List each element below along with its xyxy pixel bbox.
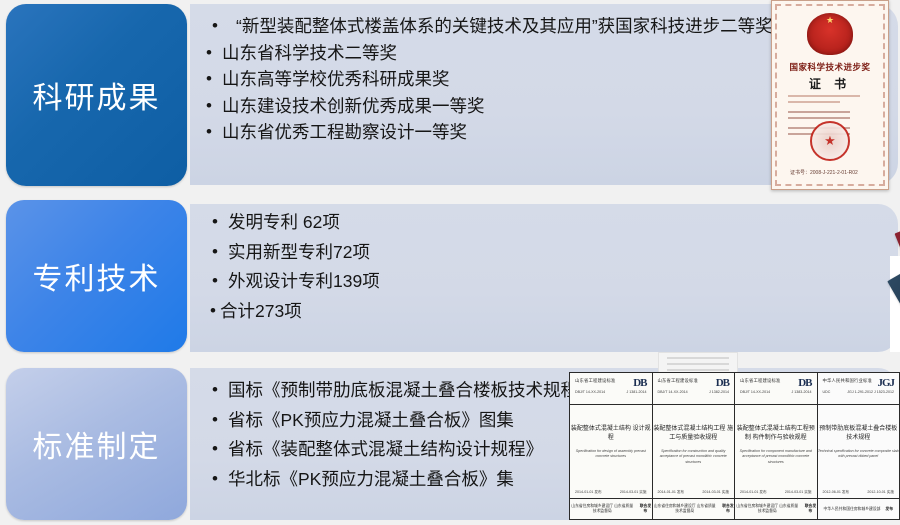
cover-code-right: J 1381-2014 (627, 390, 647, 394)
db-logo-icon: DB (798, 377, 811, 389)
cover-subtitle: Specification for construction and quali… (653, 449, 735, 465)
list-item: 外观设计专利139项 (212, 273, 888, 291)
list-item: 合计273项 (212, 303, 888, 321)
cover-code-right: J 1382-2014 (709, 390, 729, 394)
standard-cover: 山东省工程建设标准 DB DBJ/T 14-XX-2014 J 1382-201… (652, 372, 736, 520)
cover-title: 预制带肋底板混凝土叠合楼板技术规程 (818, 425, 900, 443)
certificate-inner: 国家科学技术进步奖 证 书 证书号：2008-J-221-2-01-R02 (780, 9, 880, 181)
cover-date-left: 2014-01-01 发布 (575, 490, 602, 495)
standard-specification-covers-image: 山东省工程建设标准 DB DBJ/T 14-XX-2014 J 1381-201… (570, 372, 900, 520)
cover-footer-left: 山东省住房和城乡建设厅 山东省质量技术监督局 (570, 504, 634, 514)
db-logo-icon: DB (633, 377, 646, 389)
cover-header: 山东省工程建设标准 DB DBJ/T 14-XX-2014 J 1381-201… (570, 373, 652, 405)
section-label-standard-development[interactable]: 标准制定 (6, 368, 187, 520)
jgj-logo-icon: JGJ (877, 377, 894, 389)
cover-date-right: 2014-03-01 实施 (620, 490, 647, 495)
cover-title: 装配整体式混凝土结构 设计规程 (570, 425, 652, 443)
national-emblem-icon (807, 13, 853, 55)
cover-title: 装配整体式混凝土结构工程预制 构件制作与验收规程 (735, 425, 817, 443)
cover-code-right: JGJ 1-291-2012 J 1523-2012 (847, 390, 894, 394)
cover-footer: 山东省住房和城乡建设厅 山东省质量技术监督局 联合发布 (735, 498, 817, 519)
cover-date-left: 2014-01-01 发布 (740, 490, 767, 495)
cover-date-right: 2012-10-01 实施 (867, 490, 894, 495)
list-item: 实用新型专利72项 (212, 244, 888, 262)
cover-title: 装配整体式混凝土结构工程 施工与质量验收规程 (653, 425, 735, 443)
cover-dates: 2014-01-01 发布 2014-03-01 实施 (575, 490, 647, 495)
cover-code-left: DBJ/T 14-XX-2014 (740, 390, 770, 394)
cover-date-left: 2014-01-01 发布 (658, 490, 685, 495)
cover-footer: 山东省住房和城乡建设厅 山东省质量技术监督局 联合发布 (653, 498, 735, 519)
cover-codes: DBJ/T 14-XX-2014 J 1382-2014 (658, 390, 730, 394)
cover-code-right: J 1383-2014 (792, 390, 812, 394)
red-seal-icon (810, 121, 850, 161)
cover-footer-right: 联合发布 (639, 504, 651, 514)
certificate-title-line2: 证 书 (780, 75, 880, 92)
certificate-title-line1: 国家科学技术进步奖 (780, 61, 880, 73)
national-science-award-certificate-image: 国家科学技术进步奖 证 书 证书号：2008-J-221-2-01-R02 (771, 0, 889, 190)
section-label-text: 科研成果 (33, 73, 161, 117)
cover-dates: 2014-01-01 发布 2014-03-01 实施 (740, 490, 812, 495)
cover-dates: 2014-01-01 发布 2014-03-01 实施 (658, 490, 730, 495)
cover-footer-right: 联合发布 (722, 504, 734, 514)
cover-code-left: DBJ/T 14-XX-2014 (658, 390, 688, 394)
section-label-research-results[interactable]: 科研成果 (6, 4, 187, 186)
cover-subtitle: Specification for design of assembly pre… (570, 449, 652, 460)
cover-date-right: 2014-03-01 实施 (702, 490, 729, 495)
cover-footer: 山东省住房和城乡建设厅 山东省质量技术监督局 联合发布 (570, 498, 652, 519)
db-logo-icon: DB (716, 377, 729, 389)
cover-subtitle: Technical specification for concrete com… (818, 449, 900, 460)
photo-backdrop-left (890, 256, 900, 352)
cover-footer-right: 发布 (885, 507, 893, 512)
patent-certificate-booklets-image (890, 220, 900, 352)
bullet-list-patent-technology: 发明专利 62项 实用新型专利72项 外观设计专利139项 合计273项 (212, 214, 888, 332)
cover-header: 山东省工程建设标准 DB DBJ/T 14-XX-2014 J 1383-201… (735, 373, 817, 405)
cover-footer-left: 中华人民共和国住房和城乡建设部 (823, 507, 880, 512)
section-row-patent-technology: 专利技术 发明专利 62项 实用新型专利72项 外观设计专利139项 合计273… (0, 198, 900, 356)
content-panel-patent-technology: 发明专利 62项 实用新型专利72项 外观设计专利139项 合计273项 (190, 204, 898, 352)
section-row-research-results: 科研成果 “新型装配整体式楼盖体系的关键技术及其应用”获国家科技进步二等奖 山东… (0, 0, 900, 190)
section-label-text: 专利技术 (33, 254, 161, 298)
cover-date-right: 2014-03-01 实施 (785, 490, 812, 495)
cover-footer: 中华人民共和国住房和城乡建设部 发布 (818, 498, 900, 519)
cover-codes: DBJ/T 14-XX-2014 J 1381-2014 (575, 390, 647, 394)
cover-code-left: UDC (823, 390, 831, 394)
cover-header: 中华人民共和国行业标准 JGJ UDC JGJ 1-291-2012 J 152… (818, 373, 900, 405)
section-label-patent-technology[interactable]: 专利技术 (6, 200, 187, 352)
cover-codes: DBJ/T 14-XX-2014 J 1383-2014 (740, 390, 812, 394)
section-label-text: 标准制定 (33, 422, 161, 466)
list-item: 发明专利 62项 (212, 214, 888, 232)
certificate-number: 证书号：2008-J-221-2-01-R02 (790, 169, 858, 176)
slide-canvas: 科研成果 “新型装配整体式楼盖体系的关键技术及其应用”获国家科技进步二等奖 山东… (0, 0, 900, 525)
cover-date-left: 2012-06-01 发布 (823, 490, 850, 495)
cover-codes: UDC JGJ 1-291-2012 J 1523-2012 (823, 390, 895, 394)
section-row-standard-development: 标准制定 国标《预制带肋底板混凝土叠合楼板技术规程》 省标《PK预应力混凝土叠合… (0, 364, 900, 525)
cover-footer-left: 山东省住房和城乡建设厅 山东省质量技术监督局 (735, 504, 799, 514)
standard-cover: 山东省工程建设标准 DB DBJ/T 14-XX-2014 J 1383-201… (734, 372, 818, 520)
standard-cover: 山东省工程建设标准 DB DBJ/T 14-XX-2014 J 1381-201… (569, 372, 653, 520)
standard-cover: 中华人民共和国行业标准 JGJ UDC JGJ 1-291-2012 J 152… (817, 372, 900, 520)
cover-code-left: DBJ/T 14-XX-2014 (575, 390, 605, 394)
cover-footer-left: 山东省住房和城乡建设厅 山东省质量技术监督局 (653, 504, 717, 514)
cover-header: 山东省工程建设标准 DB DBJ/T 14-XX-2014 J 1382-201… (653, 373, 735, 405)
cover-subtitle: Specification for component manufacture … (735, 449, 817, 465)
cover-footer-right: 联合发布 (804, 504, 816, 514)
cover-dates: 2012-06-01 发布 2012-10-01 实施 (823, 490, 895, 495)
